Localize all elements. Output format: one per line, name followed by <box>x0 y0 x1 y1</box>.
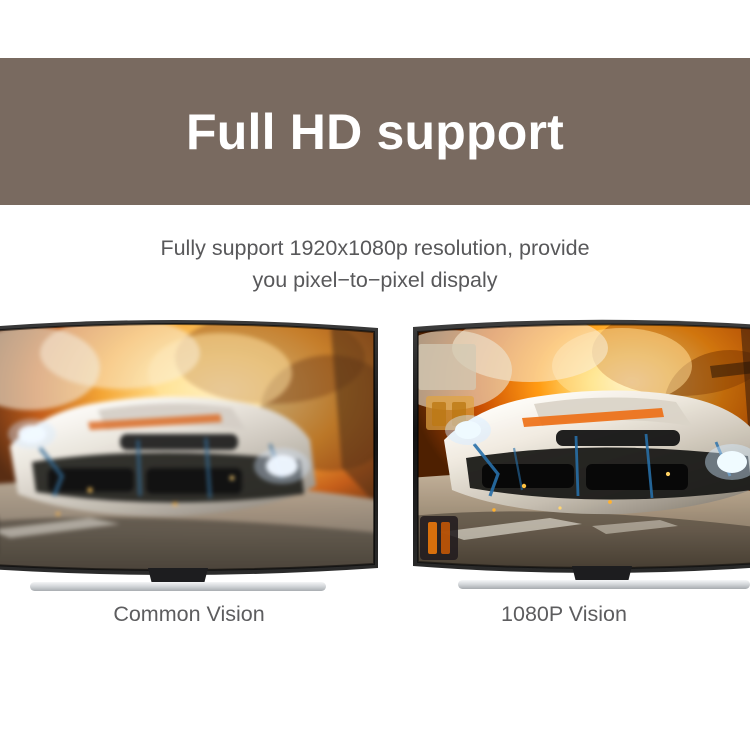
tv-stand-neck <box>148 568 208 584</box>
caption-common-vision: Common Vision <box>0 600 378 628</box>
subtitle-block: Fully support 1920x1080p resolution, pro… <box>0 232 750 296</box>
caption-1080p-vision: 1080P Vision <box>378 600 750 628</box>
hero-banner: Full HD support <box>0 58 750 205</box>
tv-stand-neck <box>572 566 632 582</box>
caption-row: Common Vision 1080P Vision <box>0 600 750 632</box>
comparison-row <box>0 318 750 593</box>
tv-stand-base <box>458 580 750 589</box>
page-title: Full HD support <box>186 107 564 157</box>
curved-tv-illustration <box>0 318 380 593</box>
subtitle-line-1: Fully support 1920x1080p resolution, pro… <box>160 236 589 260</box>
tv-screen-content <box>410 318 750 576</box>
subtitle-line-2: you pixel−to−pixel dispaly <box>252 268 497 292</box>
curved-tv-illustration <box>410 318 750 593</box>
tv-stand-base <box>30 582 326 591</box>
tv-image-1080p-vision <box>410 318 750 593</box>
product-feature-page: Full HD support Fully support 1920x1080p… <box>0 0 750 750</box>
tv-image-common-vision <box>0 318 380 593</box>
tv-screen-content <box>0 318 380 578</box>
